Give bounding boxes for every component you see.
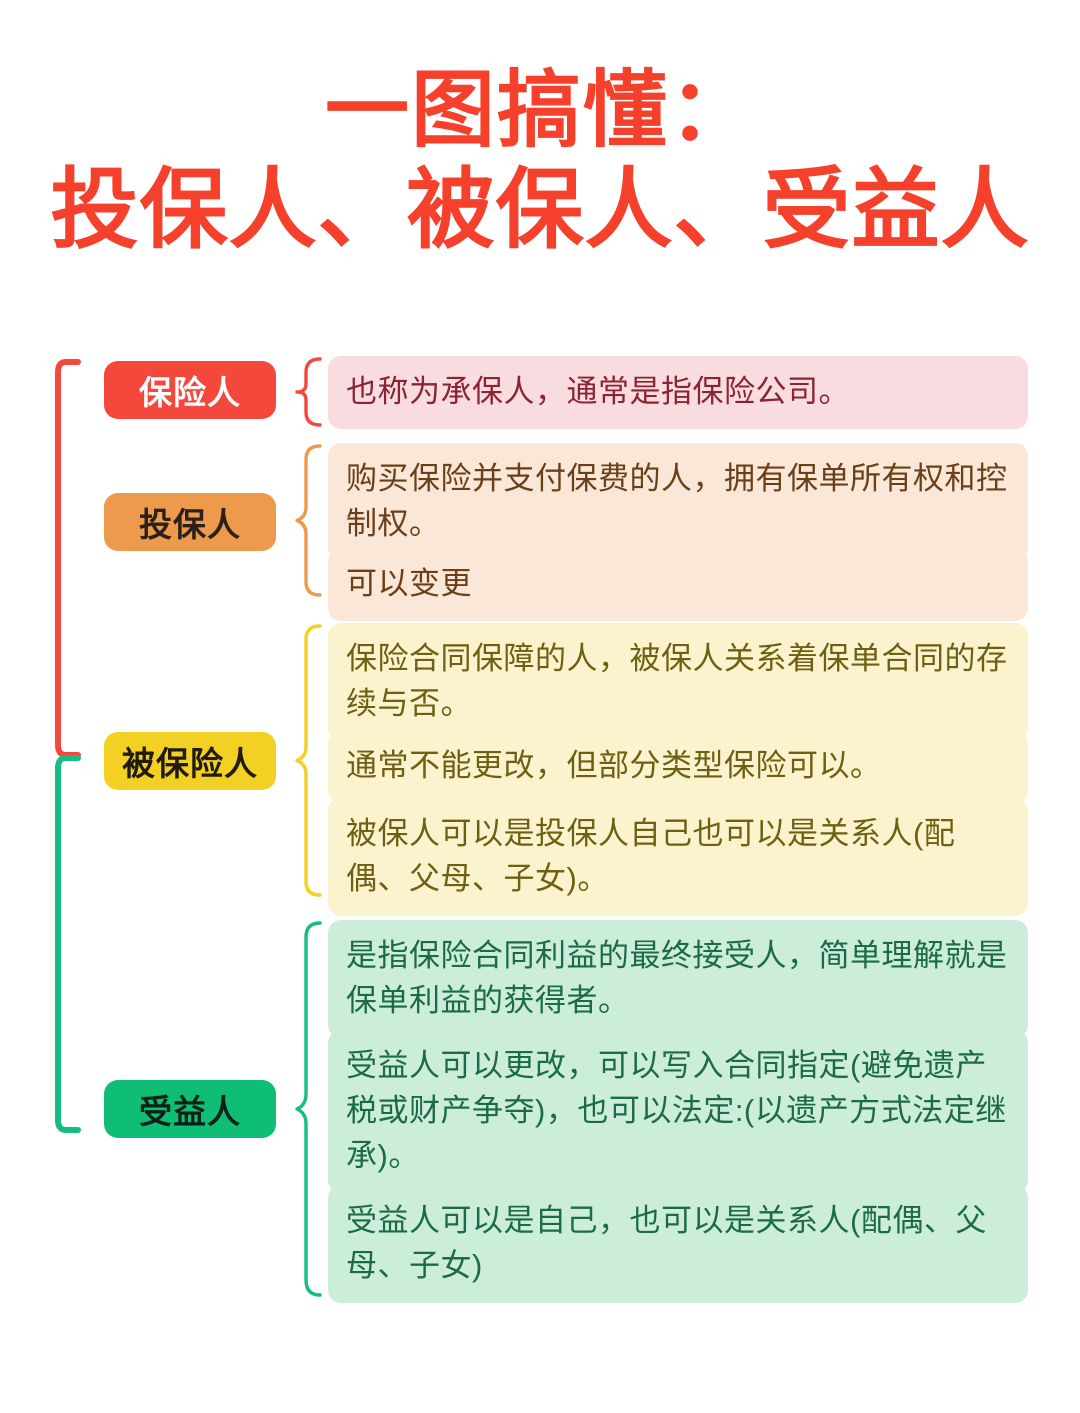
spine-bracket-lower bbox=[58, 758, 78, 1130]
diagram-body: 保险人 也称为承保人，通常是指保险公司。 投保人 购买保险并支付保费的人，拥有保… bbox=[0, 340, 1080, 1340]
category-pill-insurer[interactable]: 保险人 bbox=[104, 361, 276, 419]
category-label-beneficiary: 受益人 bbox=[139, 1085, 241, 1133]
panel-policyholder-0: 购买保险并支付保费的人，拥有保单所有权和控制权。 bbox=[328, 443, 1028, 561]
title-line-2: 投保人、被保人、受益人 bbox=[0, 158, 1080, 262]
category-label-insured: 被保险人 bbox=[122, 737, 258, 785]
category-pill-insured[interactable]: 被保险人 bbox=[104, 732, 276, 790]
panel-insured-1: 通常不能更改，但部分类型保险可以。 bbox=[328, 730, 1028, 803]
category-pill-beneficiary[interactable]: 受益人 bbox=[104, 1080, 276, 1138]
panel-insurer-0: 也称为承保人，通常是指保险公司。 bbox=[328, 356, 1028, 429]
category-label-insurer: 保险人 bbox=[139, 366, 241, 414]
panel-policyholder-1: 可以变更 bbox=[328, 548, 1028, 621]
panel-beneficiary-2: 受益人可以是自己，也可以是关系人(配偶、父母、子女) bbox=[328, 1185, 1028, 1303]
panel-insured-0: 保险合同保障的人，被保人关系着保单合同的存续与否。 bbox=[328, 623, 1028, 741]
title-line-1: 一图搞懂： bbox=[0, 62, 1080, 158]
panel-beneficiary-1: 受益人可以更改，可以写入合同指定(避免遗产税或财产争夺)，也可以法定:(以遗产方… bbox=[328, 1030, 1028, 1193]
panel-insured-2: 被保人可以是投保人自己也可以是关系人(配偶、父母、子女)。 bbox=[328, 798, 1028, 916]
title-block: 一图搞懂： 投保人、被保人、受益人 bbox=[0, 62, 1080, 262]
left-spine-brackets bbox=[40, 340, 100, 1340]
category-pill-policyholder[interactable]: 投保人 bbox=[104, 493, 276, 551]
panel-beneficiary-0: 是指保险合同利益的最终接受人，简单理解就是保单利益的获得者。 bbox=[328, 920, 1028, 1038]
category-label-policyholder: 投保人 bbox=[139, 498, 241, 546]
spine-bracket-upper bbox=[58, 362, 78, 755]
